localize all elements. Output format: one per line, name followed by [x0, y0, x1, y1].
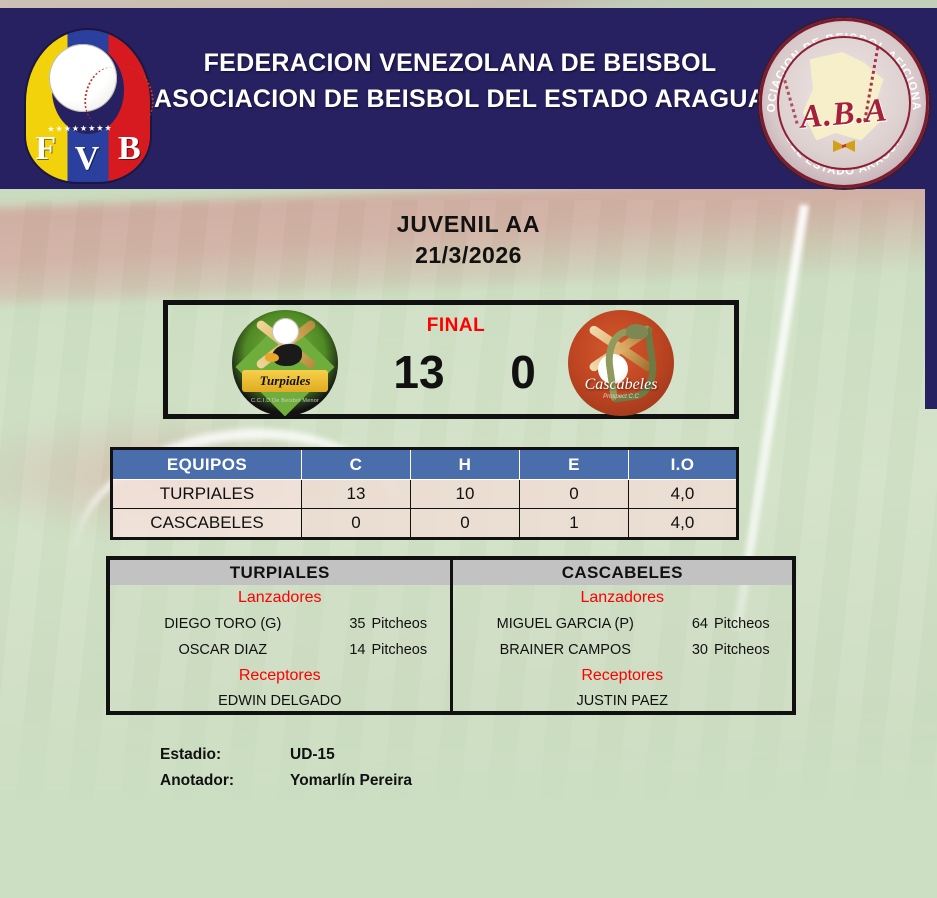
- snake-head-icon: [626, 324, 648, 339]
- away-score: 0: [478, 345, 568, 399]
- game-info-footer: Estadio: UD-15 Anotador: Yomarlín Pereir…: [160, 742, 412, 794]
- turpiales-logo-name: Turpiales: [242, 370, 328, 392]
- row-team-name: CASCABELES: [112, 509, 302, 539]
- row-hits: 10: [411, 480, 520, 509]
- scorer-label: Anotador:: [160, 768, 290, 794]
- stadium-row: Estadio: UD-15: [160, 742, 412, 768]
- fvb-logo: ★★★★★★★★ F V B: [18, 26, 158, 186]
- pitchers-label: Lanzadores: [110, 585, 450, 611]
- catcher-name: JUSTIN PAEZ: [453, 689, 793, 714]
- game-meta: JUVENIL AA 21/3/2026: [0, 209, 937, 271]
- scorebox: FINAL Turpiales C.C.I.D De Beisbol Menor…: [163, 300, 739, 419]
- fvb-letter-b: B: [118, 130, 141, 168]
- cascabeles-logo-name: Cascabeles: [568, 376, 674, 394]
- pitcher-count: 64: [670, 611, 714, 637]
- list-item: BRAINER CAMPOS 30 Pitcheos: [453, 637, 793, 663]
- aba-seal-inner: A.B.A: [777, 36, 911, 170]
- row-hits: 0: [411, 509, 520, 539]
- turpiales-team-logo: Turpiales C.C.I.D De Beisbol Menor: [232, 310, 338, 416]
- linescore-table: EQUIPOS C H E I.O TURPIALES 13 10 0 4,0 …: [110, 447, 739, 540]
- grass-lower-wash: [0, 700, 937, 898]
- game-date: 21/3/2026: [0, 239, 937, 271]
- list-item: OSCAR DIAZ 14 Pitcheos: [110, 637, 450, 663]
- table-row: CASCABELES 0 0 1 4,0: [112, 509, 738, 539]
- pitcher-name: MIGUEL GARCIA (P): [467, 611, 671, 637]
- row-errors: 0: [520, 480, 629, 509]
- row-innings: 4,0: [629, 480, 738, 509]
- catchers-label: Receptores: [453, 663, 793, 689]
- pitcher-unit: Pitcheos: [372, 637, 436, 663]
- pitchers-label: Lanzadores: [453, 585, 793, 611]
- table-header-row: EQUIPOS C H E I.O: [112, 449, 738, 480]
- catcher-name: EDWIN DELGADO: [110, 689, 450, 714]
- row-innings: 4,0: [629, 509, 738, 539]
- panel-cascabeles: CASCABELES Lanzadores MIGUEL GARCIA (P) …: [453, 560, 793, 711]
- catchers-label: Receptores: [110, 663, 450, 689]
- col-header-e: E: [520, 449, 629, 480]
- row-runs: 0: [302, 509, 411, 539]
- pitcher-count: 35: [328, 611, 372, 637]
- col-header-io: I.O: [629, 449, 738, 480]
- team-detail-panels: TURPIALES Lanzadores DIEGO TORO (G) 35 P…: [106, 556, 796, 715]
- col-header-h: H: [411, 449, 520, 480]
- header-titles: FEDERACION VENEZOLANA DE BEISBOL ASOCIAC…: [150, 46, 770, 117]
- baseball-icon: [272, 318, 299, 345]
- pitcher-unit: Pitcheos: [714, 637, 778, 663]
- table-row: TURPIALES 13 10 0 4,0: [112, 480, 738, 509]
- bowtie-icon: [833, 140, 855, 152]
- header-right-edge-strip: [925, 189, 937, 409]
- col-header-c: C: [302, 449, 411, 480]
- row-runs: 13: [302, 480, 411, 509]
- federation-title: FEDERACION VENEZOLANA DE BEISBOL: [150, 46, 770, 82]
- fvb-letter-v: V: [75, 140, 100, 178]
- list-item: DIEGO TORO (G) 35 Pitcheos: [110, 611, 450, 637]
- scoreboard-page: FEDERACION VENEZOLANA DE BEISBOL ASOCIAC…: [0, 0, 937, 898]
- scorer-row: Anotador: Yomarlín Pereira: [160, 768, 412, 794]
- pitcher-name: DIEGO TORO (G): [124, 611, 328, 637]
- turpiales-logo-subtitle: C.C.I.D De Beisbol Menor: [232, 398, 338, 404]
- list-item: MIGUEL GARCIA (P) 64 Pitcheos: [453, 611, 793, 637]
- fvb-letter-f: F: [35, 130, 56, 168]
- cascabeles-team-logo: Cascabeles Prospect C.C: [568, 310, 674, 416]
- row-errors: 1: [520, 509, 629, 539]
- pitcher-name: OSCAR DIAZ: [124, 637, 328, 663]
- category-label: JUVENIL AA: [0, 209, 937, 239]
- oriole-bird-icon: [272, 344, 302, 366]
- scorer-value: Yomarlín Pereira: [290, 768, 412, 794]
- cascabeles-logo-subtitle: Prospect C.C: [568, 394, 674, 400]
- header-banner: FEDERACION VENEZOLANA DE BEISBOL ASOCIAC…: [0, 8, 937, 189]
- home-score: 13: [374, 345, 464, 399]
- col-header-equipos: EQUIPOS: [112, 449, 302, 480]
- pitcher-count: 14: [328, 637, 372, 663]
- aba-seal-logo: ASOCIACION DE BEISBOL AFICIONADO DEL EST…: [759, 18, 929, 188]
- stadium-value: UD-15: [290, 742, 335, 768]
- pitcher-name: BRAINER CAMPOS: [467, 637, 671, 663]
- panel-team-name: CASCABELES: [453, 560, 793, 585]
- panel-team-name: TURPIALES: [110, 560, 450, 585]
- stadium-label: Estadio:: [160, 742, 290, 768]
- pitcher-count: 30: [670, 637, 714, 663]
- pitcher-unit: Pitcheos: [714, 611, 778, 637]
- baseball-icon: [49, 44, 117, 112]
- fvb-letters: F V B: [26, 130, 150, 178]
- association-title: ASOCIACION DE BEISBOL DEL ESTADO ARAGUA: [150, 82, 770, 118]
- panel-turpiales: TURPIALES Lanzadores DIEGO TORO (G) 35 P…: [110, 560, 453, 711]
- pitcher-unit: Pitcheos: [372, 611, 436, 637]
- row-team-name: TURPIALES: [112, 480, 302, 509]
